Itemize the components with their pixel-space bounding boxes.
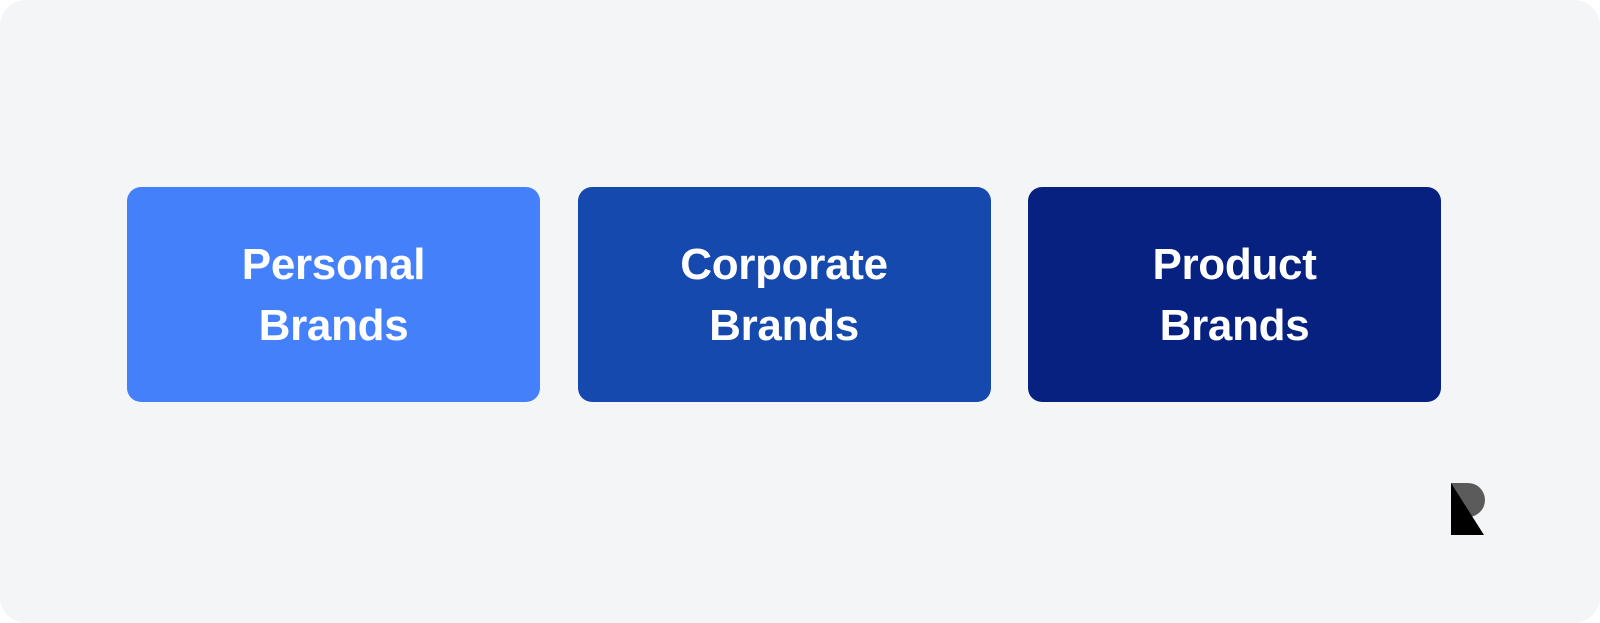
brand-card-product[interactable]: Product Brands xyxy=(1028,187,1441,402)
brand-card-personal-line2: Brands xyxy=(259,295,409,356)
brand-card-product-line1: Product xyxy=(1152,234,1316,295)
brand-card-personal[interactable]: Personal Brands xyxy=(127,187,540,402)
brand-card-personal-line1: Personal xyxy=(242,234,425,295)
brand-r-logo-icon xyxy=(1448,481,1494,537)
brand-category-card-row: Personal Brands Corporate Brands Product… xyxy=(127,187,1441,402)
brand-card-corporate[interactable]: Corporate Brands xyxy=(578,187,991,402)
brand-card-product-line2: Brands xyxy=(1160,295,1310,356)
brand-card-corporate-line2: Brands xyxy=(709,295,859,356)
brand-card-corporate-line1: Corporate xyxy=(680,234,888,295)
slide-canvas: Personal Brands Corporate Brands Product… xyxy=(0,0,1600,623)
